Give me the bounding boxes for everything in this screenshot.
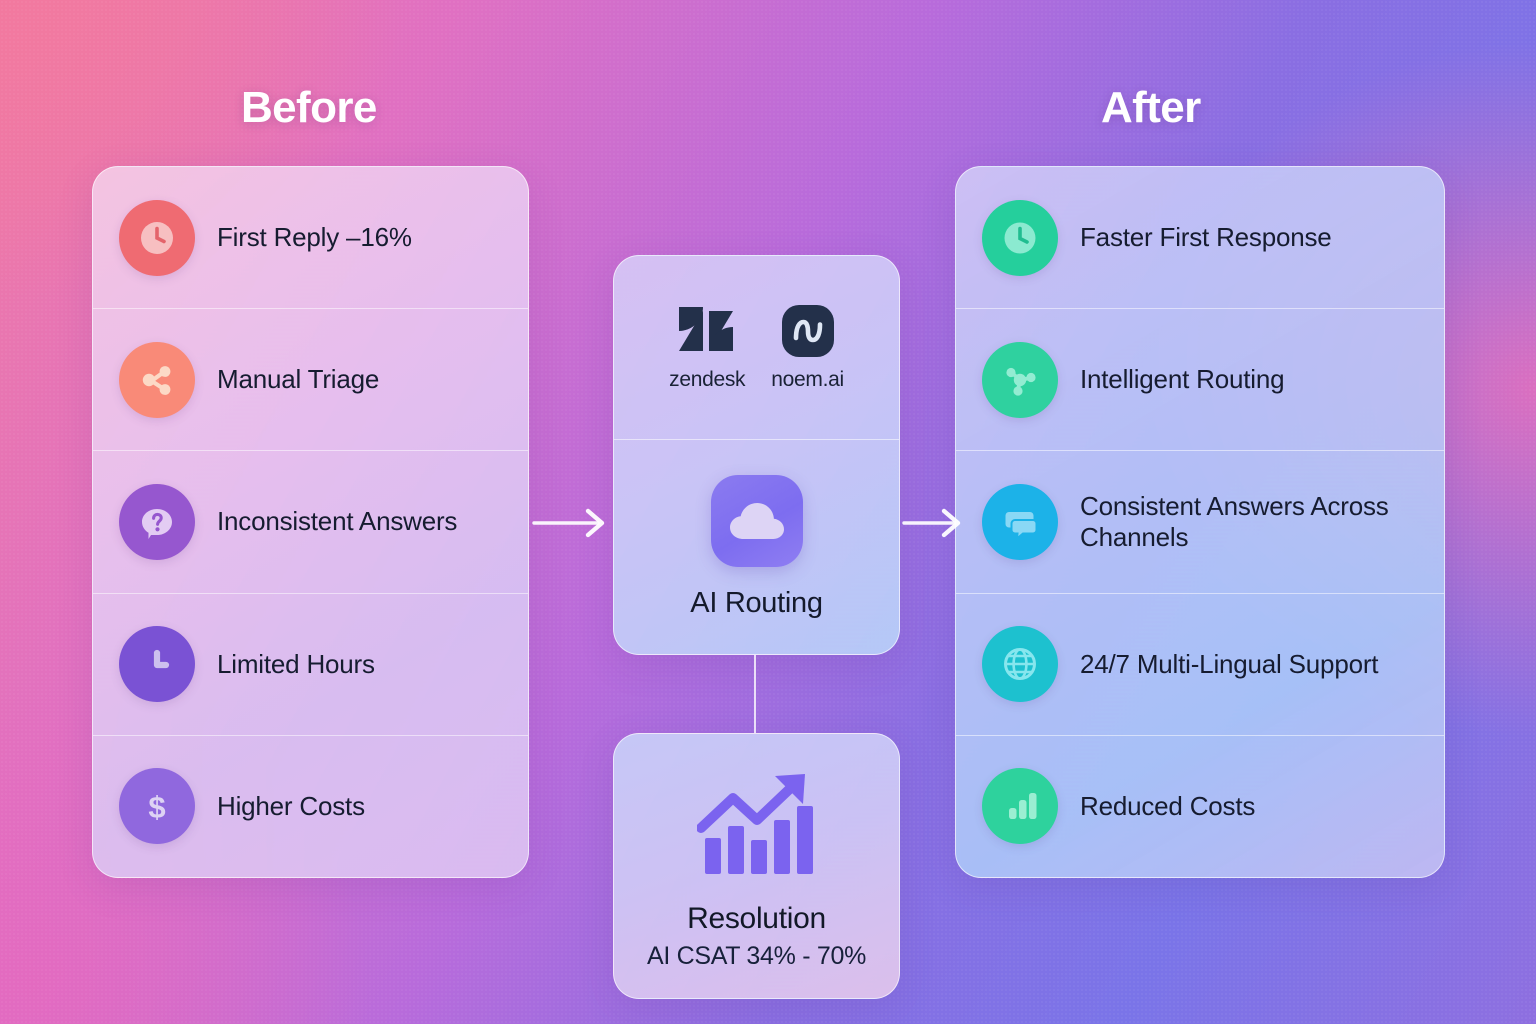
after-list: Faster First Response Intelligent Routin… [956,167,1444,877]
list-item-label: Consistent Answers Across Channels [1080,491,1418,553]
list-item-label: 24/7 Multi-Lingual Support [1080,649,1378,680]
share-icon-badge [119,342,195,418]
zendesk-logo-label: zendesk [669,368,745,392]
cloud-icon-tile [711,475,803,567]
list-item-label: First Reply –16% [217,222,412,253]
list-item[interactable]: 24/7 Multi-Lingual Support [956,593,1444,735]
share-icon [135,358,179,402]
vertical-connector [754,655,756,733]
noem-ai-logo-label: noem.ai [771,368,844,392]
chat-bubbles-icon-badge [982,484,1058,560]
resolution-title: Resolution [687,902,826,936]
before-card: First Reply –16% Manual Triage [92,166,529,878]
chat-bubbles-icon [998,500,1042,544]
dollar-icon: $ [135,784,179,828]
clock-icon [135,216,179,260]
list-item[interactable]: Consistent Answers Across Channels [956,450,1444,592]
resolution-metric-inner: Resolution AI CSAT 34% - 70% [614,734,899,998]
clock-icon-badge [982,200,1058,276]
list-item[interactable]: Inconsistent Answers [93,450,528,592]
globe-icon [998,642,1042,686]
before-list: First Reply –16% Manual Triage [93,167,528,877]
list-item[interactable]: Limited Hours [93,593,528,735]
noem-ai-logo: noem.ai [771,303,844,392]
resolution-subtitle: AI CSAT 34% - 70% [647,942,866,971]
svg-text:$: $ [148,790,165,825]
list-item-label: Higher Costs [217,791,365,822]
zendesk-logo-mark [677,303,737,359]
globe-icon-badge [982,626,1058,702]
list-item-label: Intelligent Routing [1080,364,1284,395]
arrow-right-icon [902,505,984,541]
nodes-icon [998,358,1042,402]
cloud-icon [726,498,788,544]
ai-routing-label: AI Routing [690,587,822,620]
clock-icon-badge [119,626,195,702]
noem-ai-logo-mark [780,303,836,359]
list-item[interactable]: First Reply –16% [93,167,528,308]
question-bubble-icon-badge [119,484,195,560]
question-bubble-icon [135,500,179,544]
ai-routing-hub-card: zendesk noem.ai AI Routing [613,255,900,655]
list-item-label: Faster First Response [1080,222,1332,253]
ai-routing-summary: AI Routing [614,440,899,655]
list-item[interactable]: $ Higher Costs [93,735,528,877]
bar-chart-icon [998,784,1042,828]
resolution-metric-card: Resolution AI CSAT 34% - 70% [613,733,900,999]
dollar-icon-badge: $ [119,768,195,844]
list-item-label: Limited Hours [217,649,375,680]
arrow-right-icon [532,505,614,541]
integration-logos: zendesk noem.ai [614,256,899,440]
after-column-title: After [1101,83,1201,133]
list-item-label: Manual Triage [217,364,379,395]
list-item[interactable]: Faster First Response [956,167,1444,308]
clock-icon [998,216,1042,260]
list-item[interactable]: Manual Triage [93,308,528,450]
list-item[interactable]: Intelligent Routing [956,308,1444,450]
list-item-label: Inconsistent Answers [217,506,457,537]
nodes-icon-badge [982,342,1058,418]
growth-chart-icon [697,770,817,882]
after-card: Faster First Response Intelligent Routin… [955,166,1445,878]
list-item-label: Reduced Costs [1080,791,1255,822]
bar-chart-icon-badge [982,768,1058,844]
list-item[interactable]: Reduced Costs [956,735,1444,877]
clock-icon-badge [119,200,195,276]
zendesk-logo: zendesk [669,303,745,392]
clock-icon [135,642,179,686]
before-column-title: Before [241,83,377,133]
